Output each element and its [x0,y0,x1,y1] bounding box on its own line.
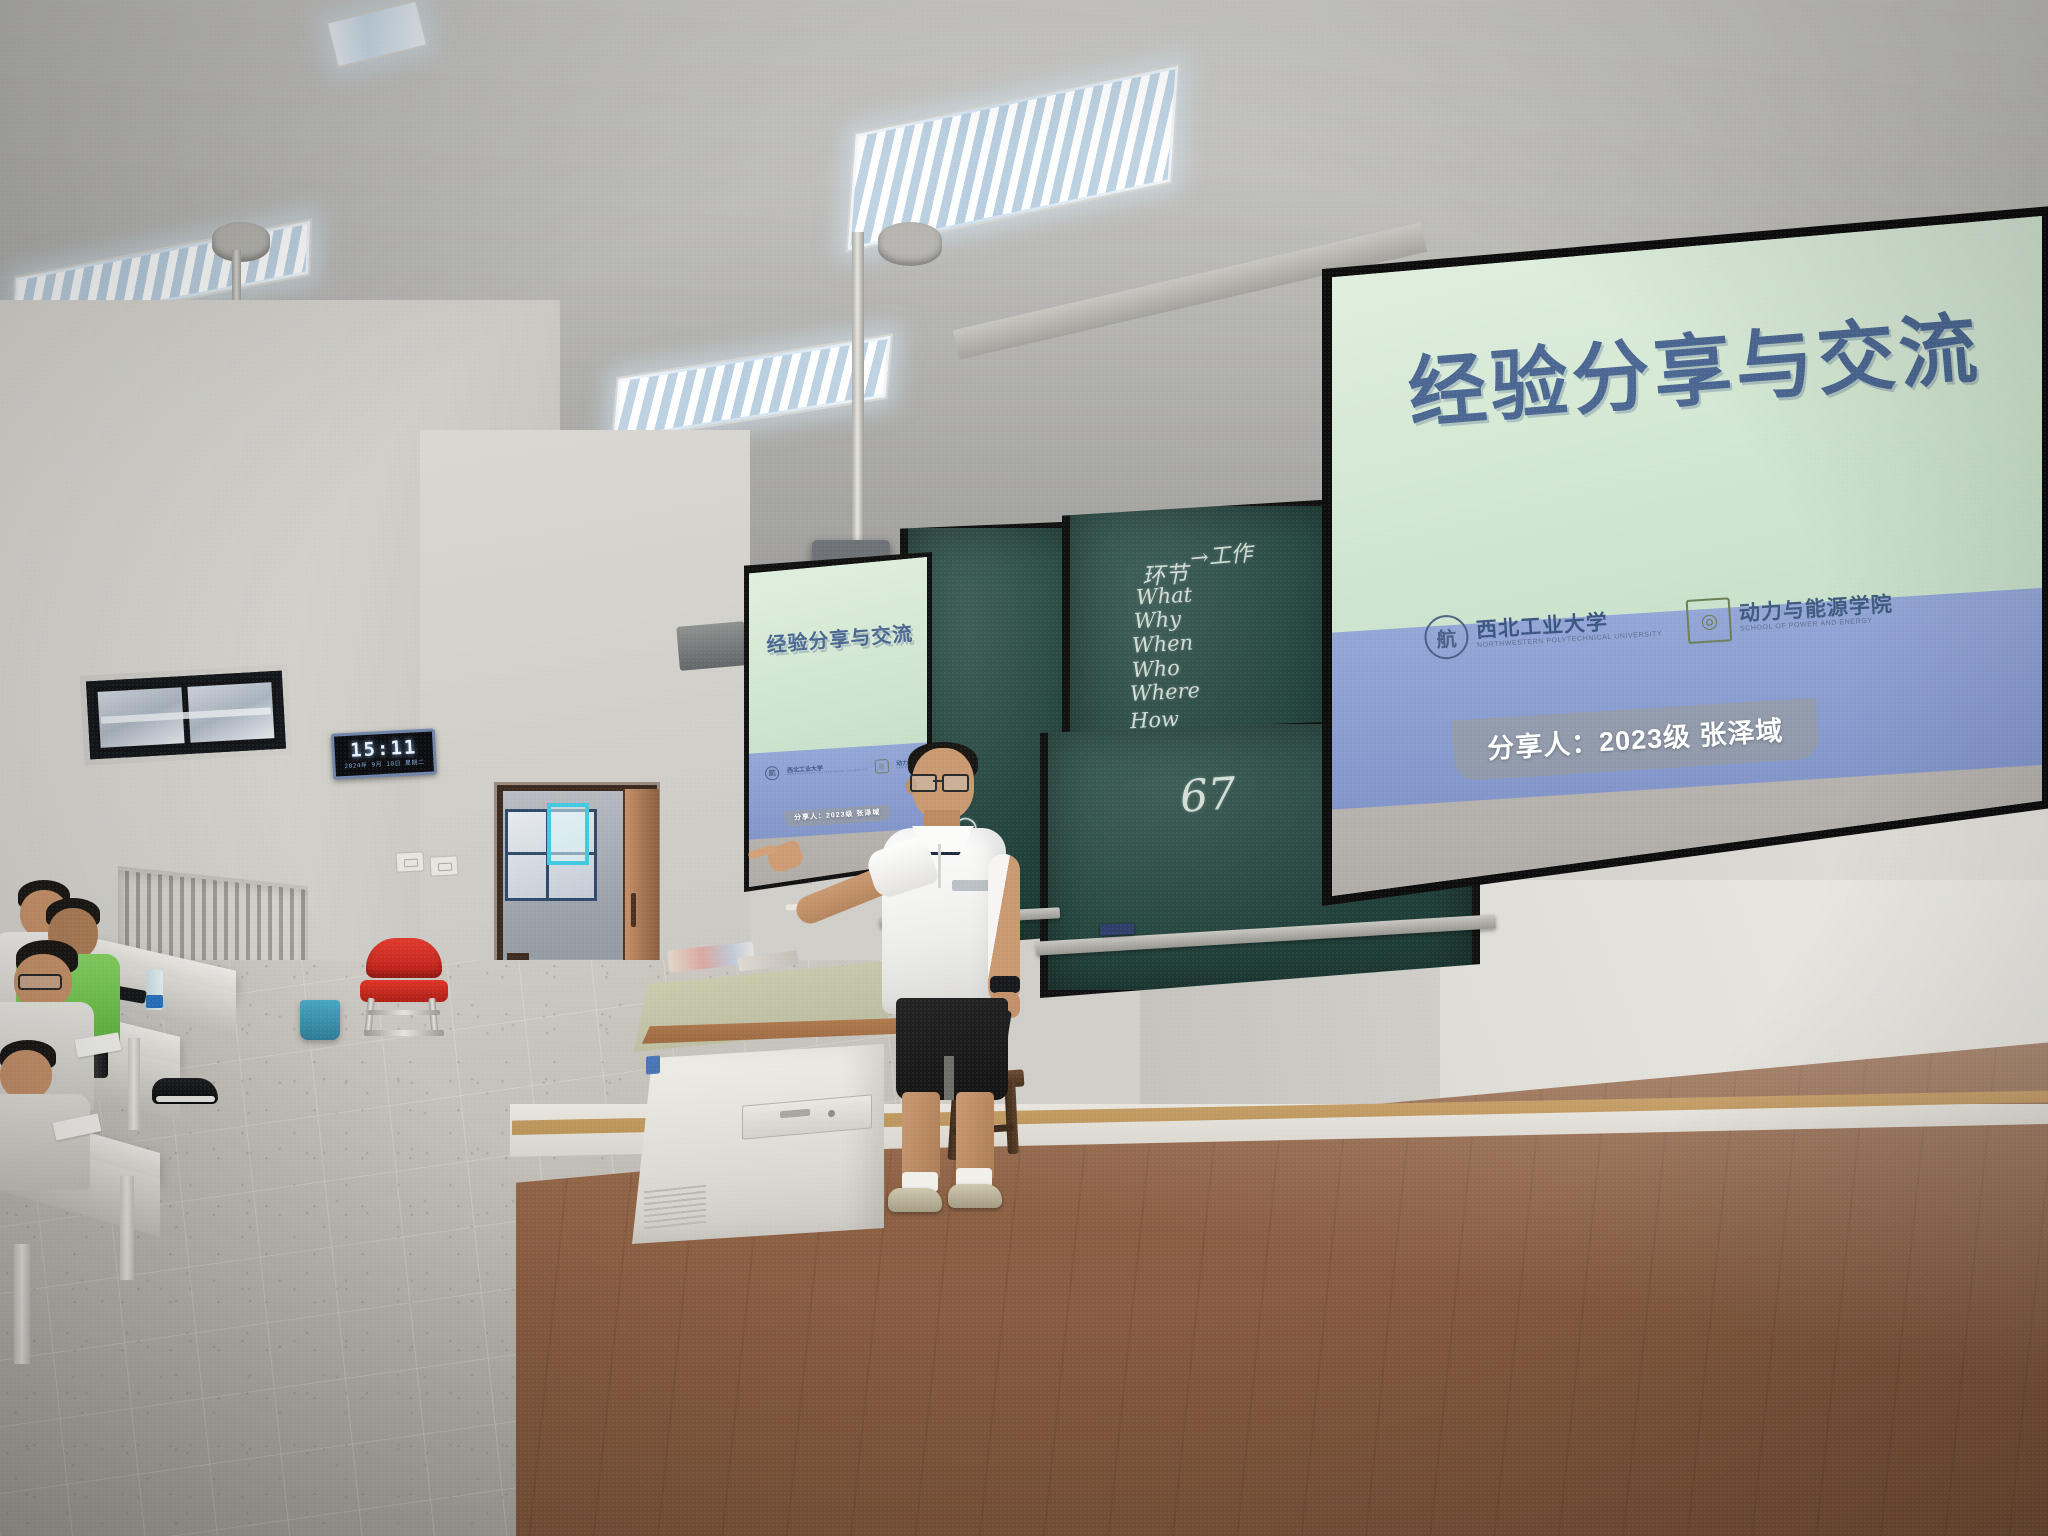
leg [956,1092,994,1180]
shorts [896,998,1008,1100]
desk-leg [120,1176,134,1280]
university-crest-icon: 航 [765,765,780,780]
audience-member [0,1040,124,1190]
desk-leg [14,1244,30,1364]
blue-window-frame [547,803,589,865]
door-handle[interactable] [631,893,636,927]
slide-main: 经验分享与交流 航 西北工业大学 NORTHWESTERN POLYTECHNI… [1332,216,2042,896]
power-outlet [395,851,424,872]
ceiling-fan-mount-icon [212,222,270,262]
shoe-on-floor [152,1078,218,1104]
eyeglasses-icon [18,974,62,990]
high-wall-window [86,671,286,760]
power-outlet [429,855,458,876]
projection-screen-main: 经验分享与交流 航 西北工业大学 NORTHWESTERN POLYTECHNI… [1322,206,2048,906]
chair-cross-rail [368,1010,440,1015]
chair-back [366,938,442,978]
waste-bin[interactable] [300,1000,340,1040]
chair-base-rail [364,1030,444,1036]
sneaker [948,1184,1002,1208]
lecture-hall-photo: 15:11 2024年 9月 10日 星期二 环节 →工作 What Why W… [0,0,2048,1536]
sneaker [888,1188,942,1212]
water-bottle[interactable] [146,970,163,1010]
desk-leg [128,1038,140,1130]
university-crest-icon: 航 [1423,614,1470,661]
small-screen-housing [676,621,748,671]
podium-label-badge [646,1055,660,1074]
digital-wall-clock: 15:11 2024年 9月 10日 星期二 [331,728,437,779]
eyeglasses-icon [910,774,968,789]
red-stacking-chair[interactable] [360,938,448,1036]
projector-mount-pole [852,232,864,550]
presenter [856,748,1036,1178]
podium-vent-grille [644,1185,706,1232]
leg [902,1092,940,1180]
clock-date: 2024年 9月 10日 星期二 [344,760,424,770]
shirt-placket [938,844,941,888]
blackboard-eraser[interactable] [1100,923,1135,936]
torso [0,1094,90,1190]
clock-time: 15:11 [350,738,418,760]
wristwatch [990,976,1020,993]
head [0,1050,52,1100]
school-emblem-icon: ◎ [1686,597,1733,644]
ceiling-fan-mount-icon [878,222,942,266]
